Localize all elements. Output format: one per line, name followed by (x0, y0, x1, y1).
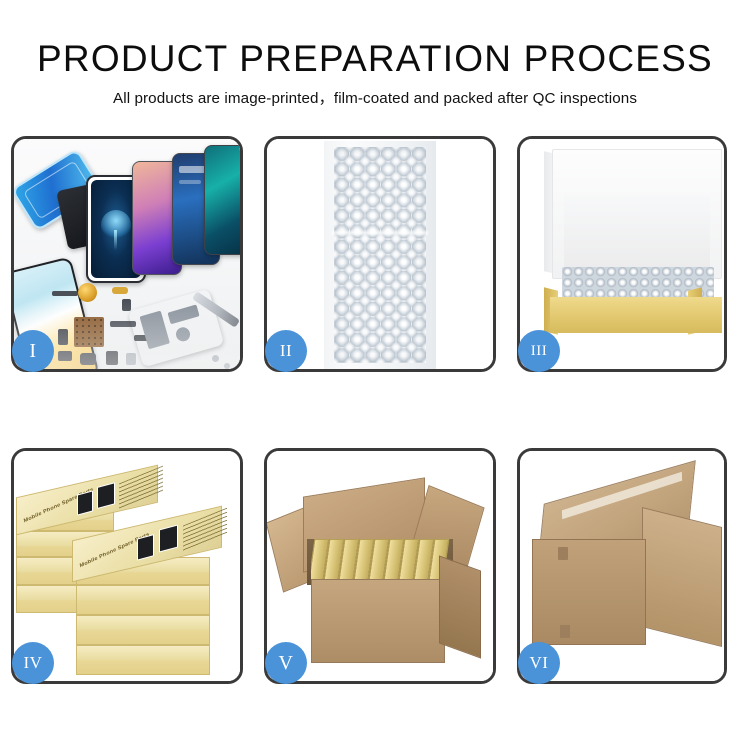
step-panel-5: V (264, 448, 496, 684)
connector-grid-part-icon (74, 317, 104, 347)
carton-right-panel-icon (642, 507, 722, 647)
step-panel-6: VI (517, 448, 727, 684)
page-subtitle: All products are image-printed，film-coat… (0, 80, 750, 109)
camera-part-icon (106, 351, 118, 365)
carton-front-panel-icon (532, 539, 646, 645)
step-panel-2: II (264, 136, 496, 372)
step-image-1 (14, 139, 240, 369)
product-preparation-infographic: PRODUCT PREPARATION PROCESS All products… (0, 0, 750, 750)
header: PRODUCT PREPARATION PROCESS All products… (0, 0, 750, 109)
step-image-4: Mobile Phone Spare Parts Mobile Phone Sp… (14, 451, 240, 681)
bubble-wrap-illustration (267, 139, 493, 369)
small-part-icon-1 (58, 329, 68, 345)
metal-bracket-part-icon (126, 353, 136, 365)
open-carton-illustration (267, 451, 493, 681)
carton-front-panel-icon (311, 579, 445, 663)
carton-contents (311, 539, 451, 583)
phones-and-parts-illustration (14, 139, 240, 369)
stacked-boxes-illustration: Mobile Phone Spare Parts Mobile Phone Sp… (14, 451, 240, 681)
carton-handle-notch-icon-1 (558, 547, 568, 560)
screw-icon-1 (212, 355, 219, 362)
bubble-wrap-icon (334, 147, 426, 363)
step-panel-3: III (517, 136, 727, 372)
step-badge-4: IV (12, 642, 54, 684)
step-panel-4: Mobile Phone Spare Parts Mobile Phone Sp… (11, 448, 243, 684)
step-image-5 (267, 451, 493, 681)
stacked-box-icon-8 (76, 645, 210, 675)
copper-coil-part-icon (78, 283, 97, 302)
step-badge-1: I (12, 330, 54, 372)
step-badge-3: III (518, 330, 560, 372)
step-badge-5: V (265, 642, 307, 684)
step-image-2 (267, 139, 493, 369)
screw-icon-2 (224, 363, 230, 369)
carton-side-panel-icon (439, 555, 481, 658)
button-part-icon (122, 299, 131, 311)
steps-grid: I II (11, 136, 740, 684)
small-part-icon-2 (58, 351, 72, 361)
page-title: PRODUCT PREPARATION PROCESS (0, 0, 750, 80)
stacked-box-icon-6 (76, 585, 210, 615)
carton-handle-notch-icon-2 (560, 625, 570, 638)
speaker-part-icon (80, 353, 96, 365)
teal-wave-phone-icon (204, 145, 240, 255)
box-stack: Mobile Phone Spare Parts Mobile Phone Sp… (14, 465, 240, 677)
wrap-seam-icon (332, 231, 428, 235)
box-interior-icon (564, 195, 710, 269)
stacked-box-icon-7 (76, 615, 210, 645)
step-badge-2: II (265, 330, 307, 372)
gold-connector-part-icon (112, 287, 128, 294)
step-badge-6: VI (518, 642, 560, 684)
step-panel-1: I (11, 136, 243, 372)
box-front-panel-icon (550, 297, 722, 333)
flex-cable-part-icon (52, 291, 78, 296)
